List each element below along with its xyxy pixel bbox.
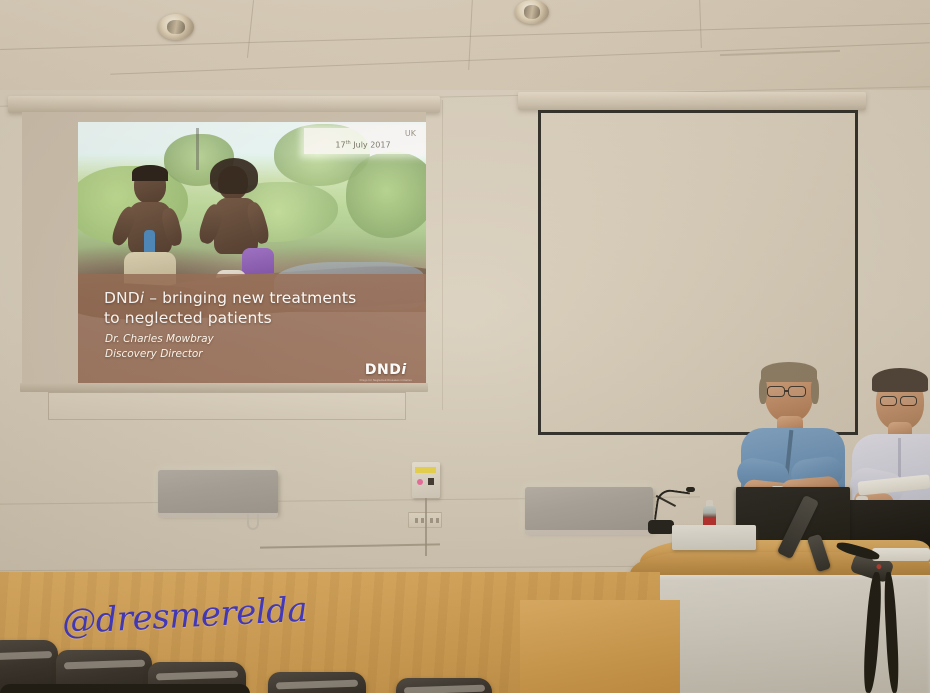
heater-right [525, 487, 653, 531]
seat [396, 678, 492, 693]
glasses-icon [788, 386, 806, 397]
wooden-floor [520, 600, 680, 693]
heater-left [158, 470, 278, 514]
dndi-logo-i: i [401, 362, 406, 378]
record-indicator-icon [876, 563, 882, 569]
grey-equipment-box [672, 525, 756, 550]
slide-title: DNDi – bringing new treatments to neglec… [104, 288, 416, 328]
slide-date-day: 17 [335, 141, 345, 150]
slide-presenter: Dr. Charles Mowbray Discovery Director [105, 332, 365, 362]
projection-screen-bottom-bar-left [20, 383, 428, 392]
presenter-name: Dr. Charles Mowbray [105, 332, 365, 347]
ceiling-vent [720, 50, 840, 56]
slide-date-box: UK 17th July 2017 [304, 128, 422, 154]
dndi-logo: DNDi Drugs for Neglected Diseases initia… [360, 362, 412, 382]
presenter-role: Discovery Director [105, 347, 365, 362]
hair [759, 378, 767, 404]
glasses-icon [900, 396, 917, 406]
slide-title-line2: to neglected patients [104, 309, 272, 327]
glasses-bridge [785, 390, 788, 392]
wall-panel [48, 392, 406, 420]
projected-slide: DNDi – bringing new treatments to neglec… [78, 122, 426, 387]
slide-title-line1-b: – bringing new treatments [144, 289, 356, 307]
hair [210, 158, 258, 194]
dndi-logo-mark: DNDi [360, 362, 412, 378]
warning-label-icon [415, 467, 436, 473]
microphone-gooseneck [654, 488, 690, 524]
foliage [346, 152, 426, 238]
slide-location: UK [405, 129, 416, 138]
glasses-icon [767, 386, 785, 397]
downlight-icon [158, 14, 194, 40]
ceiling-tile-seam [247, 0, 254, 58]
hair [811, 378, 819, 404]
dndi-logo-text: DND [365, 362, 401, 378]
slide-caption-band: DNDi – bringing new treatments to neglec… [78, 274, 426, 387]
slide-title-line1-a: DND [104, 289, 140, 307]
lecture-theatre-photo: DNDi – bringing new treatments to neglec… [0, 0, 930, 693]
ceiling [0, 0, 930, 96]
wall-control-box[interactable] [412, 462, 440, 498]
post [196, 128, 199, 170]
downlight-icon [515, 0, 549, 24]
hair [872, 368, 928, 392]
control-button-pink[interactable] [417, 479, 423, 485]
ceiling-tile-seam [110, 42, 929, 74]
slide-date-rest: July 2017 [351, 141, 391, 150]
ceiling-tile-seam [699, 0, 702, 48]
hair [132, 165, 168, 181]
glasses-icon [880, 396, 897, 406]
dndi-logo-tagline: Drugs for Neglected Diseases initiative [360, 379, 412, 382]
wall-skirting [0, 566, 660, 572]
slide-date: 17th July 2017 [304, 140, 422, 150]
seat-row-shadow [0, 684, 250, 693]
wall-cable [425, 498, 427, 556]
projection-screen-left: DNDi – bringing new treatments to neglec… [22, 112, 426, 387]
seat [268, 672, 366, 693]
hair [761, 362, 817, 382]
control-button-dark[interactable] [428, 478, 434, 485]
white-equipment-bar [872, 548, 930, 561]
microphone-base [648, 520, 674, 534]
ceiling-tile-seam [0, 23, 930, 50]
microphone-head[interactable] [686, 487, 695, 492]
projection-screen-housing-right [518, 92, 866, 110]
projection-screen-housing-left [8, 96, 440, 113]
wall-seam [442, 100, 443, 410]
